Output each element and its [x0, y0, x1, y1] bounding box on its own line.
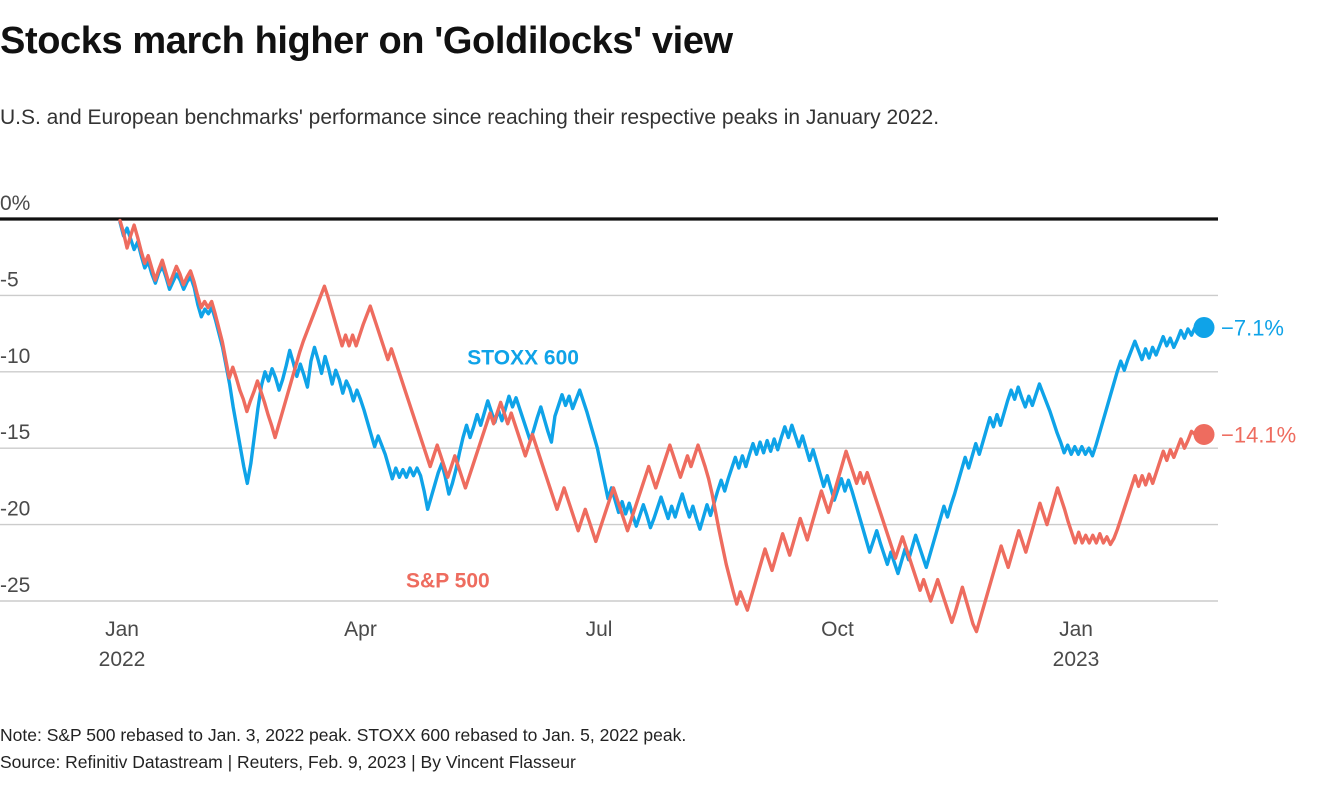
- source-line: Source: Refinitiv Datastream | Reuters, …: [0, 749, 1300, 776]
- end-value-labels: −7.1%−14.1%: [1221, 315, 1296, 447]
- y-tick-label: -20: [0, 498, 30, 521]
- footnotes: Note: S&P 500 rebased to Jan. 3, 2022 pe…: [0, 722, 1300, 776]
- gridlines: [0, 219, 1218, 601]
- x-tick-year-label: 2022: [99, 648, 146, 671]
- x-tick-label: Apr: [344, 618, 377, 641]
- x-tick-label: Jul: [586, 618, 613, 641]
- y-axis-labels: 0%-5-10-15-20-25: [0, 192, 30, 597]
- x-axis: Jan2022AprJulOctJan2023: [0, 608, 1320, 688]
- page-title: Stocks march higher on 'Goldilocks' view: [0, 22, 1300, 62]
- end-markers: [1194, 317, 1215, 445]
- end-value-label: −14.1%: [1221, 422, 1296, 447]
- x-tick-label: Jan: [105, 618, 139, 641]
- chart-subtitle: U.S. and European benchmarks' performanc…: [0, 105, 1310, 130]
- y-tick-label: -25: [0, 574, 30, 597]
- series-line: [120, 221, 1195, 632]
- series-annotation-label: S&P 500: [406, 570, 490, 593]
- note-line: Note: S&P 500 rebased to Jan. 3, 2022 pe…: [0, 722, 1300, 749]
- end-marker-dot: [1194, 424, 1215, 445]
- x-tick-label: Oct: [821, 618, 854, 641]
- series-annotations: STOXX 600S&P 500: [406, 347, 579, 593]
- end-value-label: −7.1%: [1221, 315, 1284, 340]
- y-tick-label: -5: [0, 268, 19, 291]
- chart-root: Stocks march higher on 'Goldilocks' view…: [0, 0, 1320, 800]
- y-tick-label: 0%: [0, 192, 30, 215]
- x-axis-svg: Jan2022AprJulOctJan2023: [0, 608, 1320, 688]
- series-annotation-label: STOXX 600: [467, 347, 579, 370]
- plot-area: 0%-5-10-15-20-25 STOXX 600S&P 500 −7.1%−…: [0, 180, 1320, 610]
- series-lines: [120, 221, 1195, 632]
- end-marker-dot: [1194, 317, 1215, 338]
- line-chart-svg: 0%-5-10-15-20-25 STOXX 600S&P 500 −7.1%−…: [0, 180, 1320, 610]
- x-axis-labels: Jan2022AprJulOctJan2023: [99, 618, 1100, 671]
- y-tick-label: -15: [0, 421, 30, 444]
- x-tick-label: Jan: [1059, 618, 1093, 641]
- y-tick-label: -10: [0, 345, 30, 368]
- x-tick-year-label: 2023: [1053, 648, 1100, 671]
